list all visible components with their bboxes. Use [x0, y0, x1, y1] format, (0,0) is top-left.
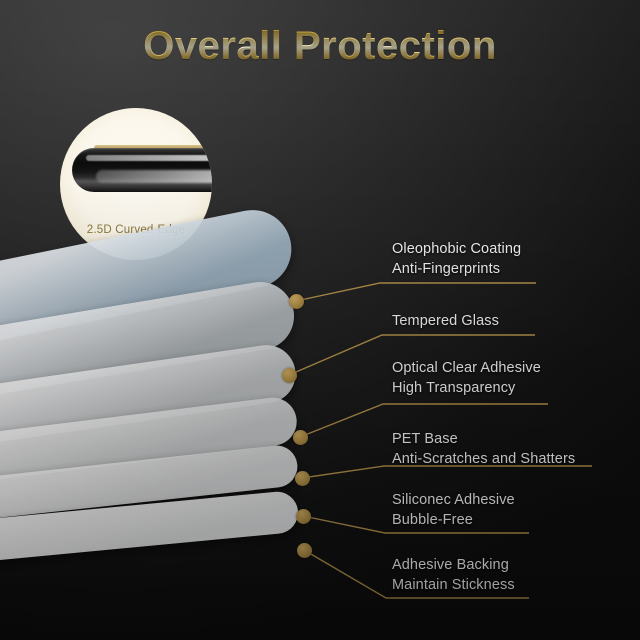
- glass-edge-highlight-top: [86, 155, 212, 161]
- label-line2-adhesive-backing: Maintain Stickness: [392, 576, 515, 596]
- connector-dot-siliconec-adhesive: [296, 509, 311, 524]
- page-title: Overall Protection: [0, 26, 640, 66]
- label-line1-optical-clear-adhesive: Optical Clear Adhesive: [392, 360, 541, 376]
- label-line2-optical-clear-adhesive: High Transparency: [392, 379, 541, 399]
- label-pet-base: PET BaseAnti-Scratches and Shatters: [392, 430, 575, 469]
- label-oleophobic-coating: Oleophobic CoatingAnti-Fingerprints: [392, 240, 521, 279]
- connector-dot-pet-base: [295, 471, 310, 486]
- label-line1-siliconec-adhesive: Siliconec Adhesive: [392, 492, 515, 508]
- label-line1-tempered-glass: Tempered Glass: [392, 313, 499, 329]
- glass-edge-highlight-inner: [96, 170, 212, 183]
- label-line1-pet-base: PET Base: [392, 431, 458, 447]
- label-line2-oleophobic-coating: Anti-Fingerprints: [392, 260, 521, 280]
- label-adhesive-backing: Adhesive BackingMaintain Stickness: [392, 556, 515, 595]
- label-line2-siliconec-adhesive: Bubble-Free: [392, 511, 515, 531]
- label-line2-pet-base: Anti-Scratches and Shatters: [392, 450, 575, 470]
- infographic-canvas: Overall Protection 2.5D Curved-Edge Oleo…: [0, 0, 640, 640]
- connector-dot-optical-clear-adhesive: [293, 430, 308, 445]
- connector-dot-adhesive-backing: [297, 543, 312, 558]
- connector-dot-tempered-glass: [282, 368, 297, 383]
- label-line1-adhesive-backing: Adhesive Backing: [392, 557, 509, 573]
- connector-dot-oleophobic-coating: [289, 294, 304, 309]
- label-siliconec-adhesive: Siliconec AdhesiveBubble-Free: [392, 491, 515, 530]
- label-optical-clear-adhesive: Optical Clear AdhesiveHigh Transparency: [392, 359, 541, 398]
- label-tempered-glass: Tempered Glass: [392, 312, 499, 332]
- label-line1-oleophobic-coating: Oleophobic Coating: [392, 241, 521, 257]
